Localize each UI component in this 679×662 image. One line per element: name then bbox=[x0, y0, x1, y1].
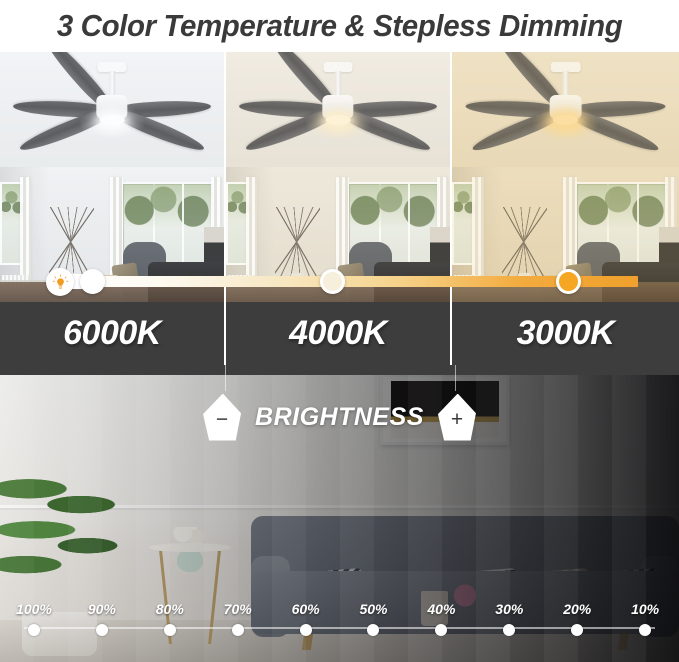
panel-image-4000k bbox=[226, 52, 450, 302]
brightness-tick[interactable]: 100% bbox=[0, 601, 68, 636]
cct-label-band-6000k: 6000K bbox=[0, 302, 224, 365]
glass-vase bbox=[177, 549, 203, 571]
brightness-tick[interactable]: 90% bbox=[68, 601, 136, 636]
fan-downrod bbox=[563, 71, 569, 97]
cct-label-band-3000k: 3000K bbox=[452, 302, 679, 365]
room-scene bbox=[0, 52, 224, 302]
brightness-tick-dot[interactable] bbox=[300, 624, 312, 636]
page-title: 3 Color Temperature & Stepless Dimming bbox=[57, 8, 622, 44]
plant-leaves bbox=[275, 207, 320, 277]
brightness-tick-label: 80% bbox=[156, 601, 184, 617]
brightness-section: − BRIGHTNESS + 100%90%80%70%60%50%40%30%… bbox=[0, 365, 679, 662]
brightness-tick-label: 20% bbox=[563, 601, 591, 617]
light-bulb-icon bbox=[46, 268, 74, 296]
title-bar: 3 Color Temperature & Stepless Dimming bbox=[0, 0, 679, 52]
brightness-tick-label: 10% bbox=[631, 601, 659, 617]
plus-glyph: + bbox=[451, 409, 463, 430]
fan-light-kit bbox=[100, 115, 125, 126]
product-infographic: 3 Color Temperature & Stepless Dimming bbox=[0, 0, 679, 662]
plant-leaves bbox=[49, 207, 94, 277]
brightness-tick-dot[interactable] bbox=[28, 624, 40, 636]
brightness-tick[interactable]: 40% bbox=[407, 601, 475, 636]
brightness-tick-label: 50% bbox=[359, 601, 387, 617]
neutral-white-knob[interactable] bbox=[320, 269, 345, 294]
brightness-tick-dot[interactable] bbox=[639, 624, 651, 636]
brightness-label: BRIGHTNESS bbox=[255, 403, 424, 432]
ceiling-fan bbox=[226, 57, 450, 207]
panel-6000k: 6000K bbox=[0, 52, 226, 365]
cct-label: 4000K bbox=[289, 314, 387, 353]
minus-glyph: − bbox=[216, 409, 228, 430]
panel-4000k: 4000K bbox=[226, 52, 452, 365]
cct-label-band-4000k: 4000K bbox=[226, 302, 450, 365]
slider-track[interactable] bbox=[52, 276, 638, 287]
plus-icon[interactable]: + bbox=[438, 394, 476, 441]
warm-white-knob[interactable] bbox=[556, 269, 581, 294]
brightness-tick-label: 40% bbox=[427, 601, 455, 617]
brightness-tick[interactable]: 60% bbox=[272, 601, 340, 636]
fan-downrod bbox=[109, 71, 115, 97]
brightness-scale[interactable]: 100%90%80%70%60%50%40%30%20%10% bbox=[0, 590, 679, 636]
brightness-tick-dot[interactable] bbox=[164, 624, 176, 636]
brightness-tick[interactable]: 70% bbox=[204, 601, 272, 636]
room-scene bbox=[452, 52, 679, 302]
color-temperature-slider[interactable] bbox=[0, 268, 679, 294]
brightness-tick[interactable]: 50% bbox=[340, 601, 408, 636]
brightness-tick-label: 60% bbox=[292, 601, 320, 617]
minus-icon[interactable]: − bbox=[203, 394, 241, 441]
fan-downrod bbox=[335, 71, 341, 97]
cct-label: 6000K bbox=[63, 314, 161, 353]
brightness-tick-dot[interactable] bbox=[435, 624, 447, 636]
cool-white-knob[interactable] bbox=[80, 269, 105, 294]
brightness-tick[interactable]: 80% bbox=[136, 601, 204, 636]
brightness-tick-dot[interactable] bbox=[367, 624, 379, 636]
brightness-control-row: − BRIGHTNESS + bbox=[0, 387, 679, 447]
room-scene bbox=[226, 52, 450, 302]
plant-leaves bbox=[502, 207, 547, 277]
section-top-edge bbox=[0, 365, 679, 375]
brightness-tick[interactable]: 10% bbox=[611, 601, 679, 636]
brightness-tick-label: 70% bbox=[224, 601, 252, 617]
color-temperature-panels: 6000K bbox=[0, 52, 679, 365]
sofa-leg bbox=[301, 634, 312, 650]
brightness-tick-label: 30% bbox=[495, 601, 523, 617]
brightness-tick-dot[interactable] bbox=[503, 624, 515, 636]
brightness-tick-dot[interactable] bbox=[571, 624, 583, 636]
ceiling-fan bbox=[0, 57, 224, 207]
scale-ticks: 100%90%80%70%60%50%40%30%20%10% bbox=[0, 601, 679, 636]
brightness-tick-dot[interactable] bbox=[96, 624, 108, 636]
ceiling-fan bbox=[452, 57, 679, 207]
panel-image-6000k bbox=[0, 52, 224, 302]
brightness-tick-label: 90% bbox=[88, 601, 116, 617]
fan-light-kit bbox=[326, 115, 351, 126]
brightness-tick-dot[interactable] bbox=[232, 624, 244, 636]
panel-3000k: 3000K bbox=[452, 52, 679, 365]
cct-label: 3000K bbox=[517, 314, 615, 353]
brightness-tick[interactable]: 20% bbox=[543, 601, 611, 636]
brightness-tick-label: 100% bbox=[16, 601, 52, 617]
brightness-tick[interactable]: 30% bbox=[475, 601, 543, 636]
panel-image-3000k bbox=[452, 52, 679, 302]
palm-leaves bbox=[0, 454, 143, 612]
fan-light-kit bbox=[553, 115, 578, 126]
